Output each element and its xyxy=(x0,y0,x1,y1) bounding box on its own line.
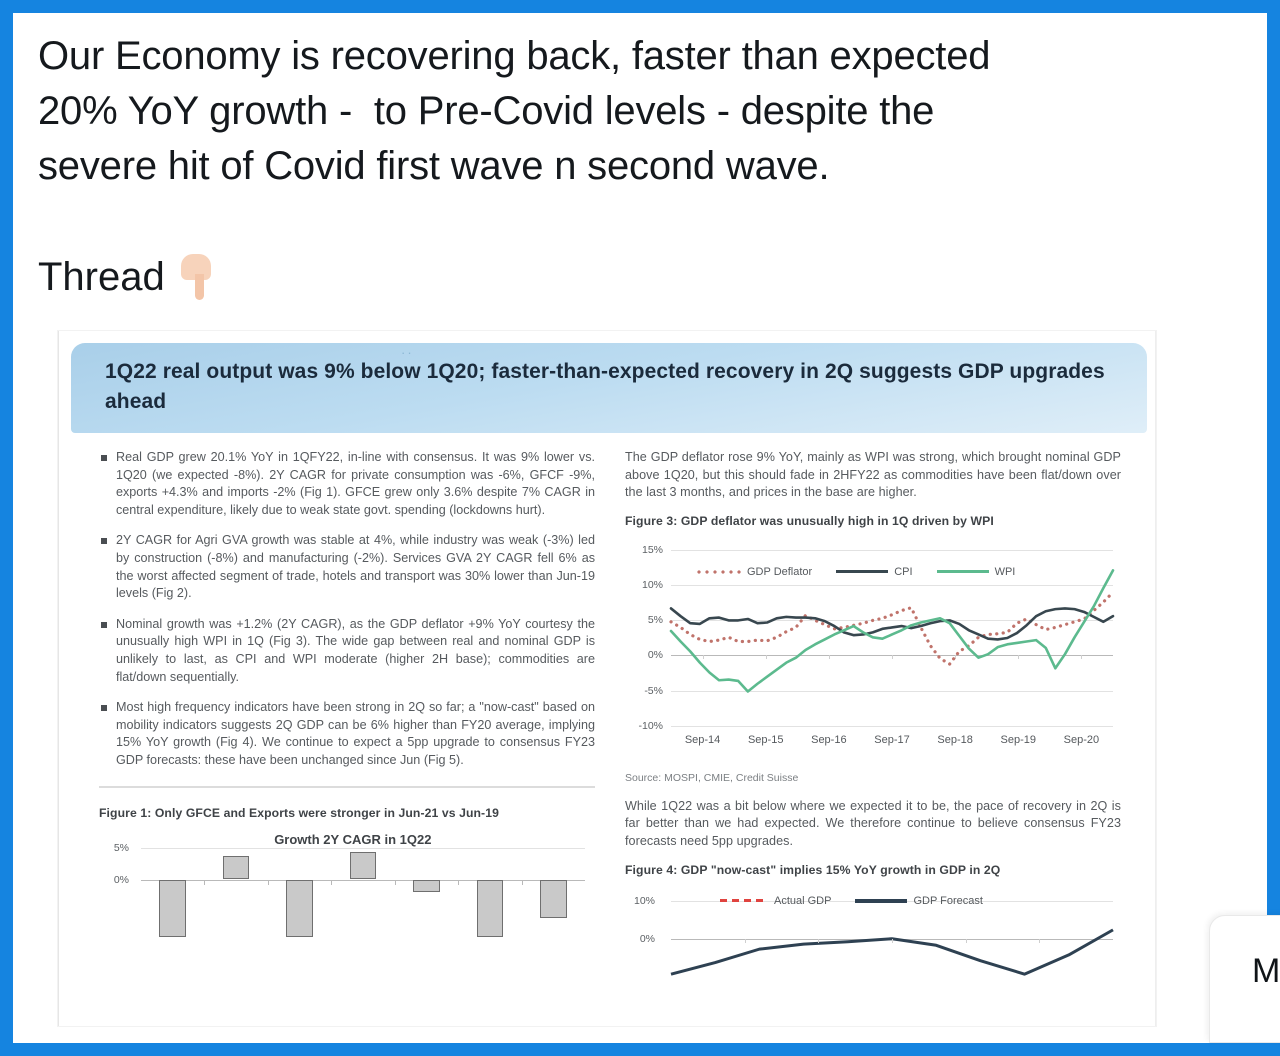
figure1-ytick-label: 5% xyxy=(99,842,129,854)
bullet-item: Most high frequency indicators have been… xyxy=(99,699,595,769)
right-column-paragraph-1: The GDP deflator rose 9% YoY, mainly as … xyxy=(625,449,1121,502)
figure4-caption: Figure 4: GDP "now-cast" implies 15% YoY… xyxy=(625,863,1121,877)
tweet-text: Our Economy is recovering back, faster t… xyxy=(38,29,1198,194)
banner-notch-marks: ·· xyxy=(401,345,423,353)
figure4-line-chart: 10% 0% Actual GDP GDP Forecast xyxy=(625,887,1121,982)
figure3-caption: Figure 3: GDP deflator was unusually hig… xyxy=(625,514,1121,528)
document-right-column: The GDP deflator rose 9% YoY, mainly as … xyxy=(625,449,1121,982)
embedded-research-note[interactable]: ·· 1Q22 real output was 9% below 1Q20; f… xyxy=(58,331,1156,1026)
tweet-body: Our Economy is recovering back, faster t… xyxy=(38,29,1198,194)
figure1-bar xyxy=(286,880,313,938)
figure4-series-line xyxy=(671,929,1113,973)
figure3-source: Source: MOSPI, CMIE, Credit Suisse xyxy=(625,772,1121,784)
outer-blue-frame: Our Economy is recovering back, faster t… xyxy=(0,0,1280,1056)
overlay-panel-letter: M xyxy=(1252,952,1280,991)
thread-row: Thread xyxy=(38,253,213,301)
thread-label: Thread xyxy=(38,253,165,301)
left-column-bullet-list: Real GDP grew 20.1% YoY in 1QFY22, in-li… xyxy=(99,449,595,770)
point-down-hand-icon xyxy=(179,254,213,300)
figure1-bar-chart: 5% 0% Growth 2Y CAGR in 1Q22 xyxy=(99,830,595,950)
figure1-bar xyxy=(223,856,250,879)
figure1-bar xyxy=(477,880,504,938)
bullet-item: Nominal growth was +1.2% (2Y CAGR), as t… xyxy=(99,616,595,686)
figure4-plot-lines xyxy=(625,887,1121,982)
document-banner: ·· 1Q22 real output was 9% below 1Q20; f… xyxy=(71,343,1147,433)
bullet-item: 2Y CAGR for Agri GVA growth was stable a… xyxy=(99,532,595,602)
screenshot-content: Our Economy is recovering back, faster t… xyxy=(13,13,1267,1043)
figure1-caption: Figure 1: Only GFCE and Exports were str… xyxy=(99,806,595,820)
figure1-bar xyxy=(350,852,377,880)
figure3-line-chart: 15%10%5%0%-5%-10% Sep-14Sep-15Sep-16Sep-… xyxy=(625,538,1121,768)
bullet-item: Real GDP grew 20.1% YoY in 1QFY22, in-li… xyxy=(99,449,595,519)
figure1-ytick-label: 0% xyxy=(99,874,129,886)
figure1-bar xyxy=(413,880,440,893)
overlay-rounded-panel[interactable]: M xyxy=(1209,915,1280,1043)
section-divider xyxy=(99,786,595,788)
document-banner-title: 1Q22 real output was 9% below 1Q20; fast… xyxy=(105,357,1125,417)
document-left-column: Real GDP grew 20.1% YoY in 1QFY22, in-li… xyxy=(99,449,595,950)
figure3-plot-lines xyxy=(625,538,1121,768)
figure3-series-line xyxy=(671,570,1113,691)
figure1-bar xyxy=(159,880,186,938)
right-column-paragraph-2: While 1Q22 was a bit below where we expe… xyxy=(625,798,1121,851)
figure1-chart-title: Growth 2Y CAGR in 1Q22 xyxy=(274,832,431,847)
figure1-bar xyxy=(540,880,567,918)
